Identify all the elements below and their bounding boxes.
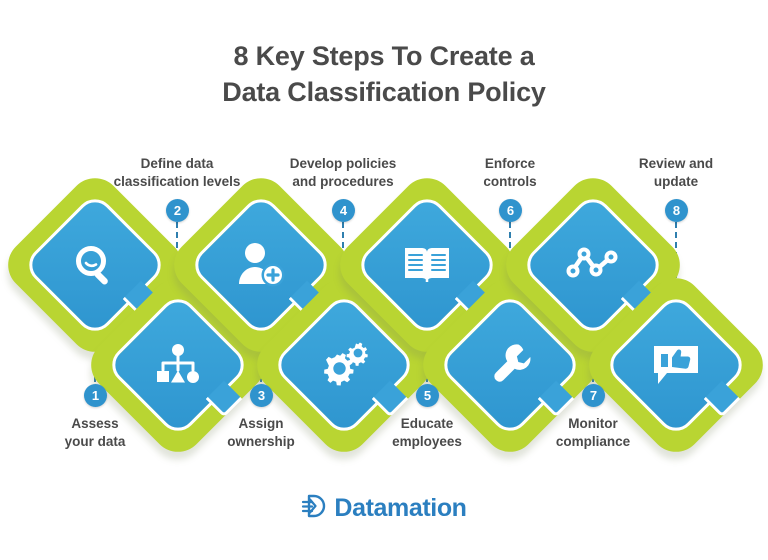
datamation-d-mark [301, 492, 329, 525]
step-caption-6-line1: Enforce [430, 155, 590, 173]
step-badge-1[interactable]: 1 [84, 384, 107, 407]
step-caption-2: Define data classification levels [97, 155, 257, 191]
step-badge-8[interactable]: 8 [665, 199, 688, 222]
step-caption-4-line1: Develop policies [263, 155, 423, 173]
step-badge-number-8: 8 [673, 204, 680, 217]
step-badge-2[interactable]: 2 [166, 199, 189, 222]
step-badge-5[interactable]: 5 [416, 384, 439, 407]
page-title: 8 Key Steps To Create a Data Classificat… [0, 38, 768, 110]
step-caption-8-line2: update [596, 173, 756, 191]
title-line-2: Data Classification Policy [0, 74, 768, 110]
step-caption-6-line2: controls [430, 173, 590, 191]
step-badge-number-2: 2 [174, 204, 181, 217]
step-caption-1: Assess your data [15, 415, 175, 451]
step-badge-3[interactable]: 3 [250, 384, 273, 407]
step-caption-1-line2: your data [15, 433, 175, 451]
step-badge-7[interactable]: 7 [582, 384, 605, 407]
step-caption-5-line1: Educate [347, 415, 507, 433]
step-caption-7: Monitor compliance [513, 415, 673, 451]
step-badge-6[interactable]: 6 [499, 199, 522, 222]
step-caption-2-line1: Define data [97, 155, 257, 173]
step-caption-3: Assign ownership [181, 415, 341, 451]
step-caption-3-line1: Assign [181, 415, 341, 433]
step-caption-4-line2: and procedures [263, 173, 423, 191]
step-caption-1-line1: Assess [15, 415, 175, 433]
step-caption-5-line2: employees [347, 433, 507, 451]
step-badge-number-5: 5 [424, 389, 431, 402]
step-caption-7-line1: Monitor [513, 415, 673, 433]
step-caption-8-line1: Review and [596, 155, 756, 173]
thumbs-up-icon [607, 296, 745, 434]
step-caption-7-line2: compliance [513, 433, 673, 451]
title-line-1: 8 Key Steps To Create a [233, 41, 534, 71]
step-badge-number-6: 6 [507, 204, 514, 217]
step-badge-number-7: 7 [590, 389, 597, 402]
datamation-wordmark: Datamation [334, 494, 466, 523]
step-caption-6: Enforce controls [430, 155, 590, 191]
step-badge-number-1: 1 [92, 389, 99, 402]
datamation-logo[interactable]: Datamation [0, 492, 768, 525]
step-caption-4: Develop policies and procedures [263, 155, 423, 191]
step-badge-number-3: 3 [258, 389, 265, 402]
step-badge-number-4: 4 [340, 204, 347, 217]
step-caption-2-line2: classification levels [97, 173, 257, 191]
step-caption-8: Review and update [596, 155, 756, 191]
step-caption-3-line2: ownership [181, 433, 341, 451]
infographic-canvas: 8 Key Steps To Create a Data Classificat… [0, 0, 768, 560]
step-caption-5: Educate employees [347, 415, 507, 451]
step-node-8[interactable] [607, 296, 745, 434]
step-badge-4[interactable]: 4 [332, 199, 355, 222]
